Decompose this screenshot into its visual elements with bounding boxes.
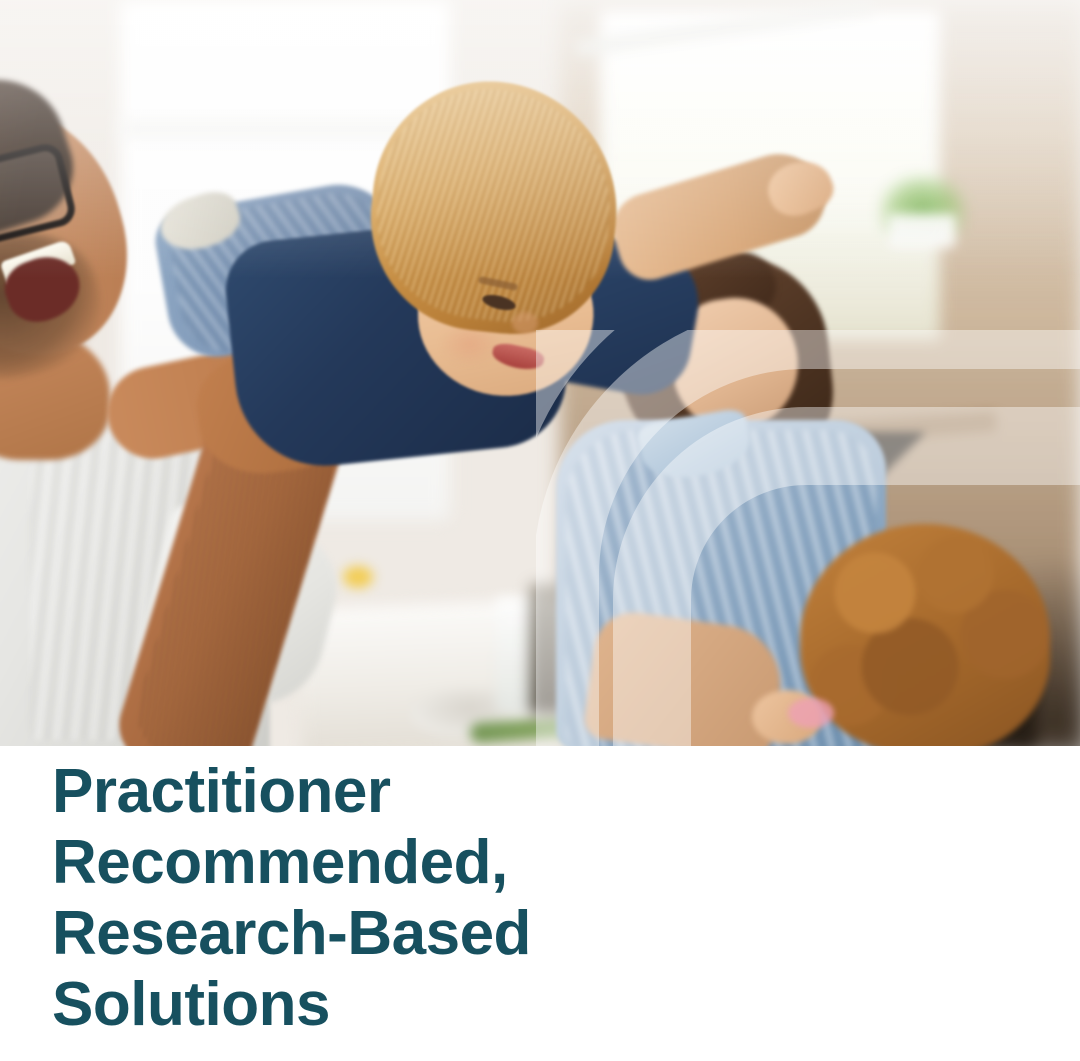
counter-yellow-item [343,566,373,588]
hero-photo [0,0,1080,746]
girl-curly-hair [800,524,1050,746]
marketing-poster: Practitioner Recommended, Research-Based… [0,0,1080,1061]
girl-pink-object [788,698,834,728]
child-nose [512,312,538,334]
page-title: Practitioner Recommended, Research-Based… [52,756,531,1040]
plant-pot [888,214,956,248]
headline-band: Practitioner Recommended, Research-Based… [0,746,1080,1061]
